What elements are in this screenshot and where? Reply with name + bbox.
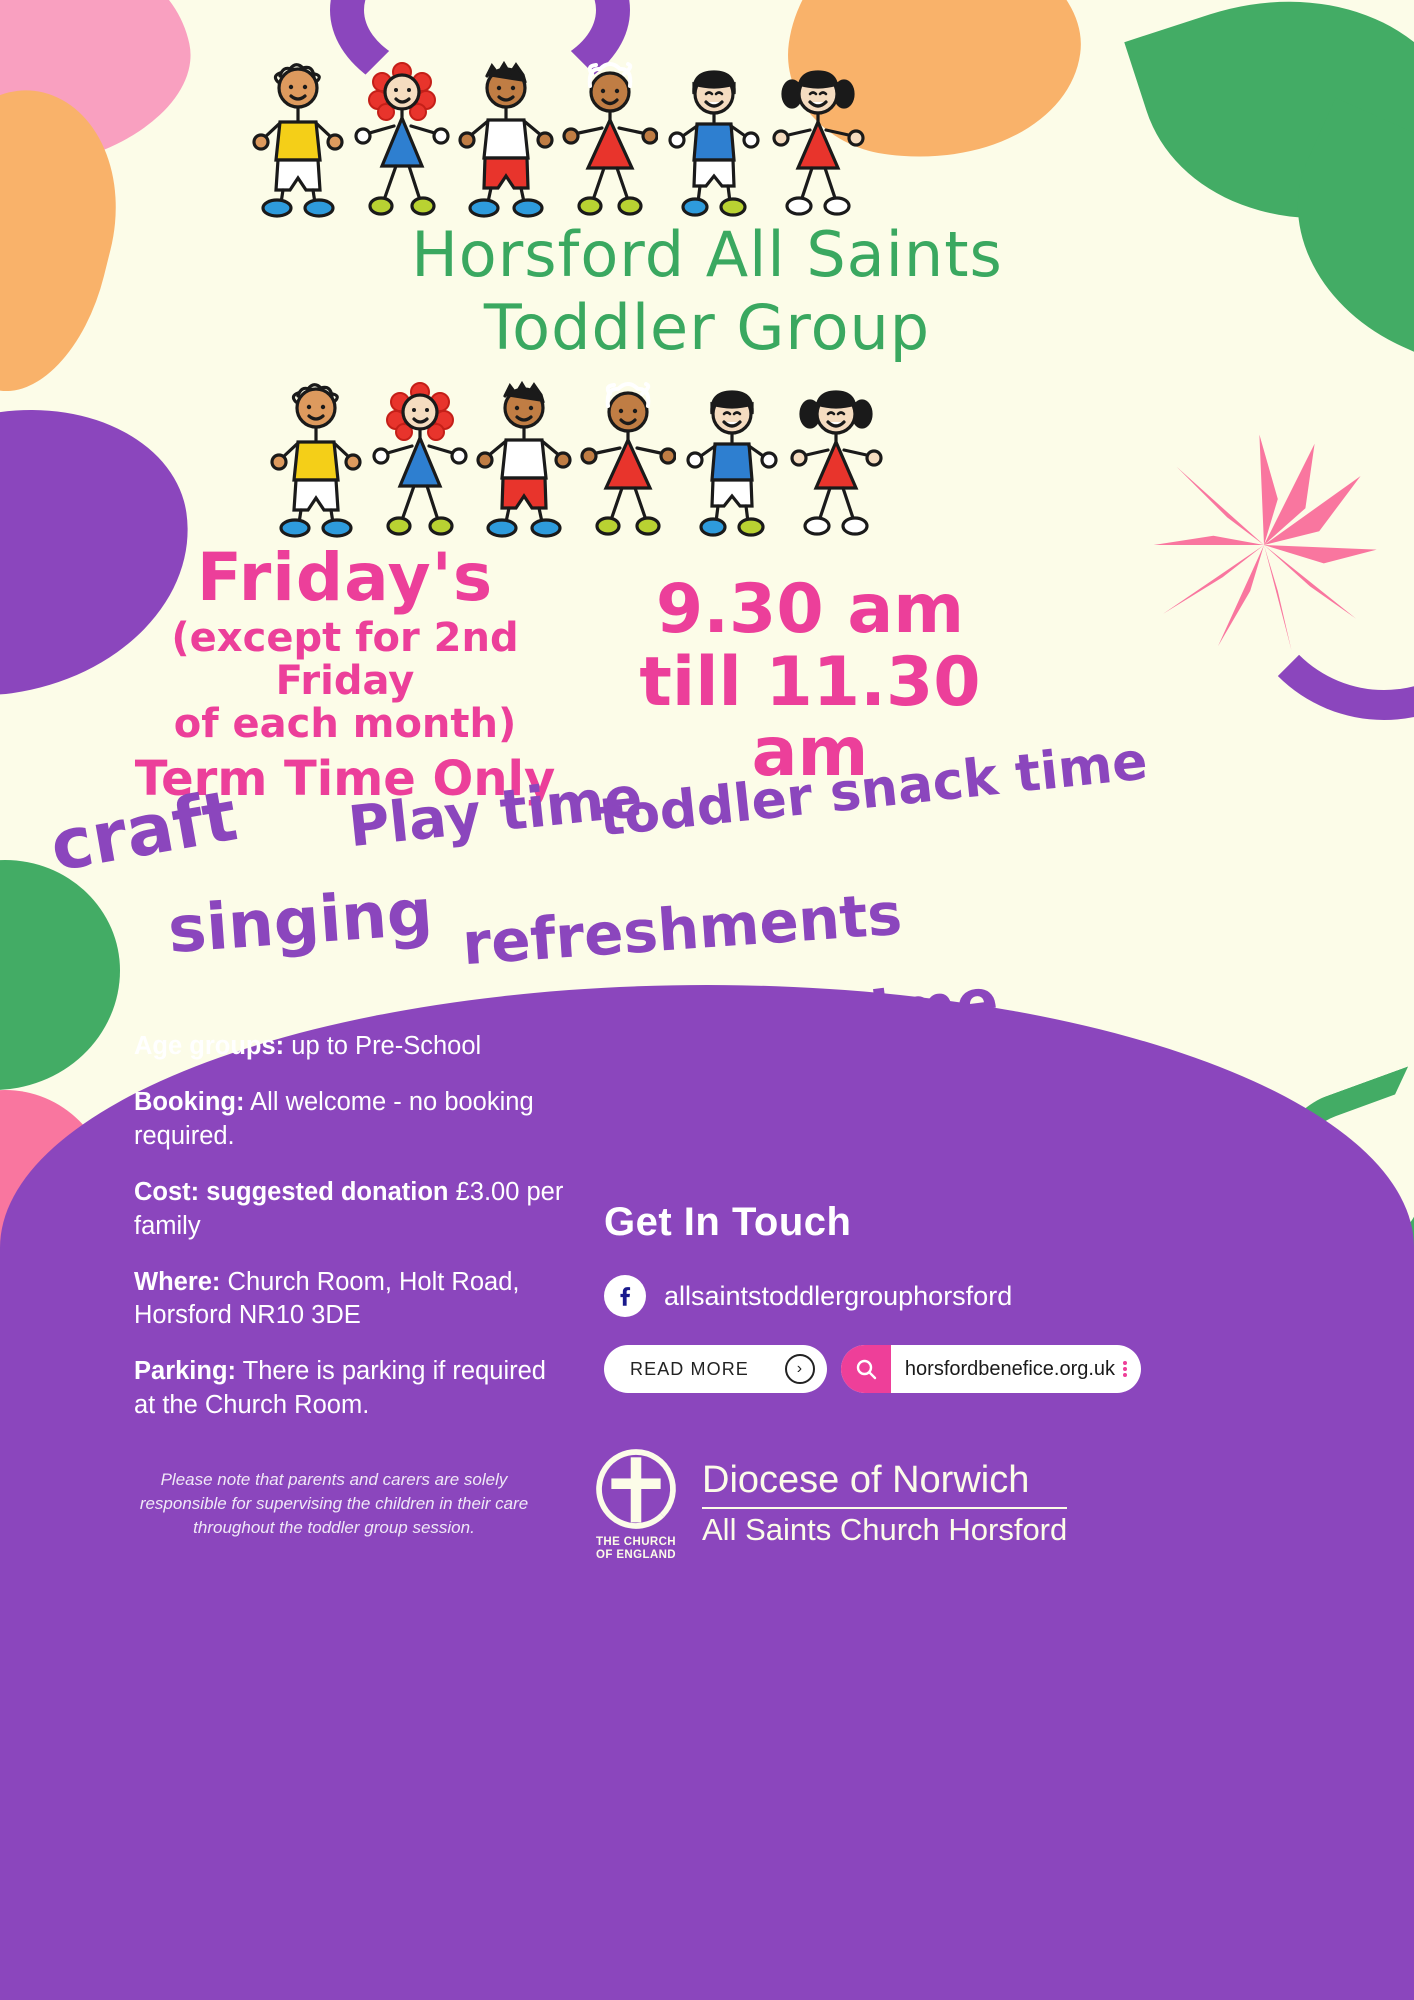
church-of-england-mark: THE CHURCH OF ENGLAND — [588, 1445, 684, 1562]
diocese-logo: THE CHURCH OF ENGLAND Diocese of Norwich… — [588, 1445, 1067, 1562]
detail-booking-label: Booking: — [134, 1088, 244, 1116]
kid-figure-yellow-2 — [268, 380, 364, 540]
schedule-day-block: Friday's (except for 2nd Friday of each … — [130, 545, 560, 805]
kid-figure-yellow — [250, 60, 346, 220]
detail-age-groups-value: up to Pre-School — [284, 1032, 481, 1060]
logo-title: Horsford All Saints Toddler Group — [0, 218, 1414, 364]
activity-refreshments: refreshments — [460, 880, 904, 979]
decor-ring-purple-right — [1234, 420, 1414, 720]
kid-figure-red-hair-2 — [372, 380, 468, 540]
chevron-right-icon: › — [785, 1354, 815, 1384]
kids-illustration-bottom — [268, 380, 884, 540]
detail-age-groups: Age groups: up to Pre-School — [134, 1030, 564, 1064]
diocese-divider — [702, 1507, 1067, 1509]
facebook-icon[interactable] — [604, 1275, 646, 1317]
activity-singing: singing — [166, 876, 435, 968]
read-more-button[interactable]: READ MORE › — [604, 1345, 827, 1393]
facebook-row[interactable]: allsaintstoddlergrouphorsford — [604, 1275, 1012, 1317]
facebook-handle[interactable]: allsaintstoddlergrouphorsford — [664, 1281, 1012, 1312]
coe-line1: THE CHURCH — [588, 1536, 684, 1549]
detail-where: Where: Church Room, Holt Road, Horsford … — [134, 1266, 564, 1334]
kid-figure-pigtails — [770, 60, 866, 220]
detail-booking: Booking: All welcome - no booking requir… — [134, 1086, 564, 1154]
search-icon[interactable] — [841, 1345, 891, 1393]
links-row: READ MORE › horsfordbenefice.org.uk — [604, 1345, 1141, 1393]
disclaimer-text: Please note that parents and carers are … — [134, 1468, 534, 1540]
kid-figure-pigtails-2 — [788, 380, 884, 540]
schedule-exception-line2: of each month) — [130, 703, 560, 746]
get-in-touch-heading: Get In Touch — [604, 1200, 851, 1245]
diocese-wordmark: Diocese of Norwich All Saints Church Hor… — [702, 1461, 1067, 1547]
diocese-parish: All Saints Church Horsford — [702, 1514, 1067, 1547]
decor-starburst-pink — [1134, 430, 1394, 660]
details-list: Age groups: up to Pre-School Booking: Al… — [134, 1030, 564, 1445]
logo-title-line2: Toddler Group — [0, 291, 1414, 364]
kid-figure-red-dress-2 — [580, 380, 676, 540]
diocese-name: Diocese of Norwich — [702, 1461, 1067, 1505]
decor-blob-pink-top-left — [0, 0, 208, 184]
detail-age-groups-label: Age groups: — [134, 1032, 284, 1060]
detail-parking: Parking: There is parking if required at… — [134, 1355, 564, 1423]
read-more-label: READ MORE — [630, 1359, 749, 1380]
kebab-menu-icon[interactable] — [1123, 1361, 1141, 1377]
schedule-start-time: 9.30 am — [600, 575, 1020, 646]
website-url-text[interactable]: horsfordbenefice.org.uk — [891, 1358, 1123, 1381]
schedule-exception-line1: (except for 2nd Friday — [130, 617, 560, 703]
kid-figure-red-hair — [354, 60, 450, 220]
kid-figure-red-dress — [562, 60, 658, 220]
cross-circle-icon — [592, 1445, 680, 1533]
detail-where-label: Where: — [134, 1268, 220, 1296]
activity-craft: craft — [44, 774, 243, 887]
detail-cost: Cost: suggested donation £3.00 per famil… — [134, 1176, 564, 1244]
kid-figure-white-shirt — [458, 60, 554, 220]
detail-parking-label: Parking: — [134, 1357, 236, 1385]
kid-figure-white-shirt-2 — [476, 380, 572, 540]
logo-title-line1: Horsford All Saints — [411, 218, 1003, 291]
kids-illustration-top — [250, 60, 866, 220]
details-panel: Age groups: up to Pre-School Booking: Al… — [0, 985, 1414, 2000]
detail-cost-label: Cost: suggested donation — [134, 1178, 449, 1206]
website-url-bar[interactable]: horsfordbenefice.org.uk — [841, 1345, 1141, 1393]
kid-figure-blue-shirt-2 — [684, 380, 780, 540]
coe-line2: OF ENGLAND — [588, 1549, 684, 1562]
kid-figure-blue-shirt — [666, 60, 762, 220]
poster-root: Horsford All Saints Toddler Group — [0, 0, 1414, 2000]
schedule-day: Friday's — [130, 545, 560, 611]
